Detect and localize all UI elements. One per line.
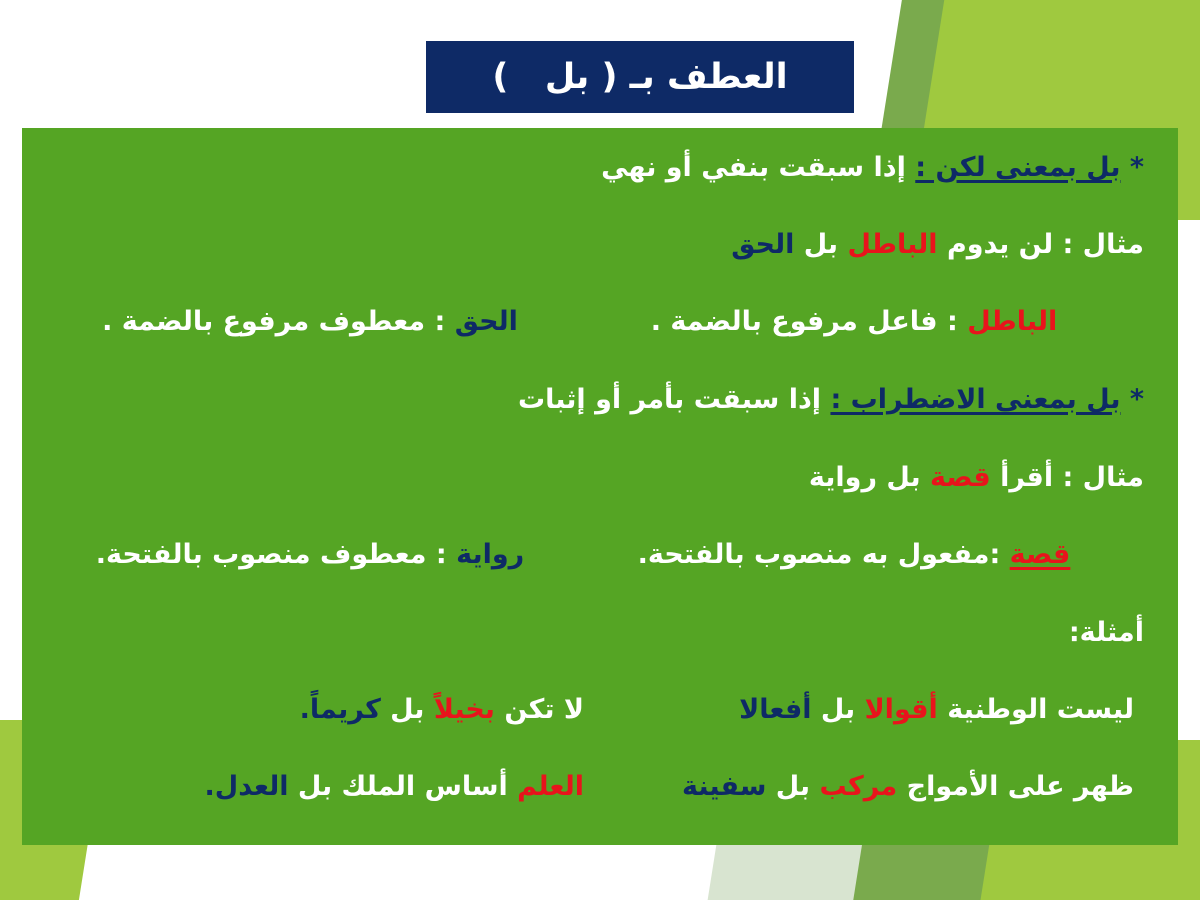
ex-r1-left-navy: كريماً. [300,694,381,725]
parse-2-left-term: رواية [456,539,524,570]
rule-2-head: بل بمعنى الاضطراب : [830,384,1120,415]
parse-2-right-desc: :مفعول به منصوب بالفتحة. [638,539,1010,570]
parse-line-1: الباطل : فاعل مرفوع بالضمة . الحق : معطو… [22,308,1178,335]
parse-2-right-cell: قصة :مفعول به منصوب بالفتحة. [564,541,1144,568]
example-row-1-right-cell: ليست الوطنية أقوالا بل أفعالا [584,696,1144,723]
parse-1-right-desc: : فاعل مرفوع بالضمة . [651,306,967,337]
ex-r2-left-lead: أساس الملك بل [288,771,517,802]
examples-row-2-pair: ظهر على الأمواج مركب بل سفينة العلم أساس… [56,773,1144,800]
examples-row-2: ظهر على الأمواج مركب بل سفينة العلم أساس… [22,773,1178,800]
content-panel: * بل بمعنى لكن : إذا سبقت بنفي أو نهي مث… [22,128,1178,845]
ex-r1-right-navy: أفعالا [739,694,811,725]
ex-r1-left-lead: لا تكن [495,694,584,725]
example-row-2-right-cell: ظهر على الأمواج مركب بل سفينة [584,773,1144,800]
ex-r2-left-red: العلم [517,771,584,802]
ex-r2-right-navy: سفينة [682,771,766,802]
parse-2-left-desc: : معطوف منصوب بالفتحة. [96,539,456,570]
parse-1-left-cell: الحق : معطوف مرفوع بالضمة . [56,308,564,335]
examples-row-1-pair: ليست الوطنية أقوالا بل أفعالا لا تكن بخي… [56,696,1144,723]
example-line-2: مثال : أقرأ قصة بل رواية [22,464,1178,491]
example-row-1-left-cell: لا تكن بخيلاً بل كريماً. [64,696,584,723]
rule-line-1: * بل بمعنى لكن : إذا سبقت بنفي أو نهي [22,154,1178,181]
rule-1-marker: * [1120,152,1144,183]
slide-title-banner: العطف بـ ( بل ) [426,41,854,113]
parse-1-right-term: الباطل [967,306,1057,337]
parse-1-right-cell: الباطل : فاعل مرفوع بالضمة . [564,308,1144,335]
rule-2-body: إذا سبقت بأمر أو إثبات [518,384,830,415]
parse-1-left-desc: : معطوف مرفوع بالضمة . [102,306,455,337]
examples-header-line: أمثلة: [22,619,1178,646]
ex-r2-left-navy: العدل. [205,771,289,802]
example-row-2-left-cell: العلم أساس الملك بل العدل. [64,773,584,800]
ex-r1-left-connector: بل [381,694,434,725]
example-1-lead: مثال : لن يدوم [938,229,1144,260]
rule-2-marker: * [1120,384,1144,415]
parse-2-left-cell: رواية : معطوف منصوب بالفتحة. [56,541,564,568]
rule-1-body: إذا سبقت بنفي أو نهي [601,152,915,183]
rule-line-2: * بل بمعنى الاضطراب : إذا سبقت بأمر أو إ… [22,386,1178,413]
example-2-lead: مثال : أقرأ [991,462,1144,493]
example-1-red-word: الباطل [847,229,937,260]
parse-line-2: قصة :مفعول به منصوب بالفتحة. رواية : معط… [22,541,1178,568]
example-2-red-word: قصة [930,462,991,493]
parse-row-1: الباطل : فاعل مرفوع بالضمة . الحق : معطو… [56,308,1144,335]
ex-r1-left-red: بخيلاً [434,694,495,725]
examples-header: أمثلة: [1069,617,1144,648]
example-2-tail: بل رواية [809,462,930,493]
example-1-connector: بل [794,229,847,260]
example-line-1: مثال : لن يدوم الباطل بل الحق [22,231,1178,258]
rule-1-head: بل بمعنى لكن : [915,152,1120,183]
ex-r1-right-lead: ليست الوطنية [938,694,1134,725]
ex-r1-right-connector: بل [812,694,865,725]
slide-canvas: العطف بـ ( بل ) * بل بمعنى لكن : إذا سبق… [0,0,1200,900]
examples-row-1: ليست الوطنية أقوالا بل أفعالا لا تكن بخي… [22,696,1178,723]
ex-r2-right-red: مركب [819,771,897,802]
ex-r2-right-lead: ظهر على الأمواج [897,771,1134,802]
ex-r1-right-red: أقوالا [865,694,938,725]
ex-r2-right-connector: بل [766,771,819,802]
page-title: العطف بـ ( بل ) [492,57,787,97]
example-1-navy-word: الحق [731,229,794,260]
parse-1-left-term: الحق [455,306,518,337]
parse-2-right-term: قصة [1010,539,1071,570]
parse-row-2: قصة :مفعول به منصوب بالفتحة. رواية : معط… [56,541,1144,568]
